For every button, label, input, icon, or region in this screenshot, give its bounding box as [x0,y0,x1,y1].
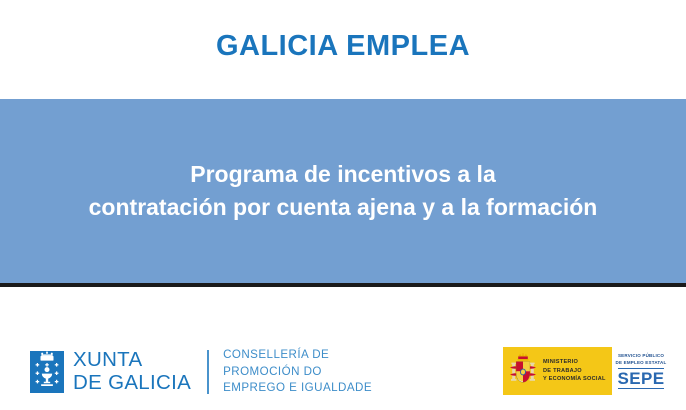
sepe-subtitle-line-2: DE EMPLEO ESTATAL [616,360,667,367]
ministerio-de-trabajo-logo: MINISTERIO DE TRABAJO Y ECONOMÍA SOCIAL [503,347,612,395]
xunta-de-galicia-logo: XUNTA DE GALICIA CONSELLERÍA DE PROMOCIÓ… [30,347,372,397]
ministerio-line-2: DE TRABAJO [543,367,606,376]
xunta-wordmark-line-1: XUNTA [73,349,191,372]
slide-title-area: GALICIA EMPLEA [0,0,686,99]
ministerio-line-1: MINISTERIO [543,358,606,367]
conselleria-line-2: PROMOCIÓN DO [223,364,372,381]
conselleria-line-1: CONSELLERÍA DE [223,347,372,364]
xunta-wordmark: XUNTA DE GALICIA [73,349,191,395]
program-banner-line-1: Programa de incentivos a la [89,158,598,191]
program-banner: Programa de incentivos a la contratación… [0,99,686,283]
spain-coat-of-arms-icon [508,353,538,389]
xunta-wordmark-line-2: DE GALICIA [73,372,191,395]
gobierno-de-espana-logo-block: MINISTERIO DE TRABAJO Y ECONOMÍA SOCIAL … [503,347,670,395]
xunta-coat-of-arms-icon [30,351,64,393]
conselleria-wordmark: CONSELLERÍA DE PROMOCIÓN DO EMPREGO E IG… [223,347,372,397]
program-banner-text: Programa de incentivos a la contratación… [75,158,612,223]
conselleria-line-3: EMPREGO E IGUALDADE [223,380,372,397]
ministerio-line-3: Y ECONOMÍA SOCIAL [543,375,606,384]
logo-divider [207,350,209,394]
sepe-subtitle: SERVICIO PÚBLICO DE EMPLEO ESTATAL [616,353,667,367]
page-title: GALICIA EMPLEA [216,30,470,69]
sepe-logo: SERVICIO PÚBLICO DE EMPLEO ESTATAL SEPE [612,347,670,395]
sepe-wordmark: SEPE [618,368,665,389]
program-banner-line-2: contratación por cuenta ajena y a la for… [89,191,598,224]
sepe-subtitle-line-1: SERVICIO PÚBLICO [616,353,667,360]
ministerio-wordmark: MINISTERIO DE TRABAJO Y ECONOMÍA SOCIAL [543,358,606,385]
